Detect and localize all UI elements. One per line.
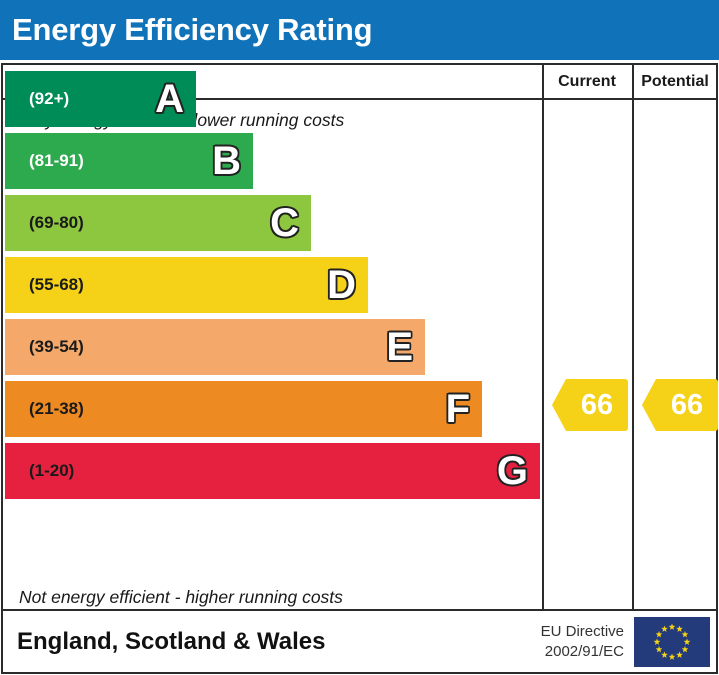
chart-footer: England, Scotland & Wales EU Directive 2… [1, 611, 718, 674]
band-letter-f: F [446, 389, 470, 429]
page-title: Energy Efficiency Rating [12, 12, 372, 48]
rating-table: Current Potential Very energy efficient … [1, 63, 718, 611]
band-bar-e: (39-54)E [5, 319, 425, 375]
band-bar-b: (81-91)B [5, 133, 253, 189]
band-bar-c: (69-80)C [5, 195, 311, 251]
potential-rating-value: 66 [671, 389, 703, 422]
current-rating-value: 66 [581, 389, 613, 422]
band-range-e: (39-54) [29, 337, 84, 357]
footer-directive: EU Directive 2002/91/EC [541, 621, 624, 662]
band-range-a: (92+) [29, 89, 69, 109]
footer-region-label: England, Scotland & Wales [17, 628, 325, 656]
band-range-d: (55-68) [29, 275, 84, 295]
band-letter-c: C [270, 203, 299, 243]
band-bar-g: (1-20)G [5, 443, 540, 499]
current-rating-arrow: 66 [552, 379, 628, 431]
column-header-current: Current [542, 65, 632, 98]
band-range-f: (21-38) [29, 399, 84, 419]
energy-efficiency-rating-chart: Energy Efficiency Rating Current Potenti… [0, 0, 719, 675]
eu-flag-icon [634, 617, 710, 667]
chart-title-bar: Energy Efficiency Rating [0, 0, 719, 60]
column-divider-current [542, 65, 544, 609]
band-range-b: (81-91) [29, 151, 84, 171]
band-letter-a: A [155, 79, 184, 119]
band-bars: (92+)A(81-91)B(69-80)C(55-68)D(39-54)E(2… [3, 65, 540, 609]
band-bar-d: (55-68)D [5, 257, 368, 313]
band-bar-f: (21-38)F [5, 381, 482, 437]
potential-rating-arrow: 66 [642, 379, 718, 431]
column-divider-potential [632, 65, 634, 609]
column-header-potential: Potential [632, 65, 718, 98]
directive-line-2: 2002/91/EC [541, 642, 624, 662]
band-letter-d: D [327, 265, 356, 305]
band-letter-b: B [212, 141, 241, 181]
band-letter-g: G [497, 451, 528, 491]
band-bar-a: (92+)A [5, 71, 196, 127]
directive-line-1: EU Directive [541, 621, 624, 641]
band-range-g: (1-20) [29, 461, 74, 481]
band-letter-e: E [386, 327, 413, 367]
band-range-c: (69-80) [29, 213, 84, 233]
